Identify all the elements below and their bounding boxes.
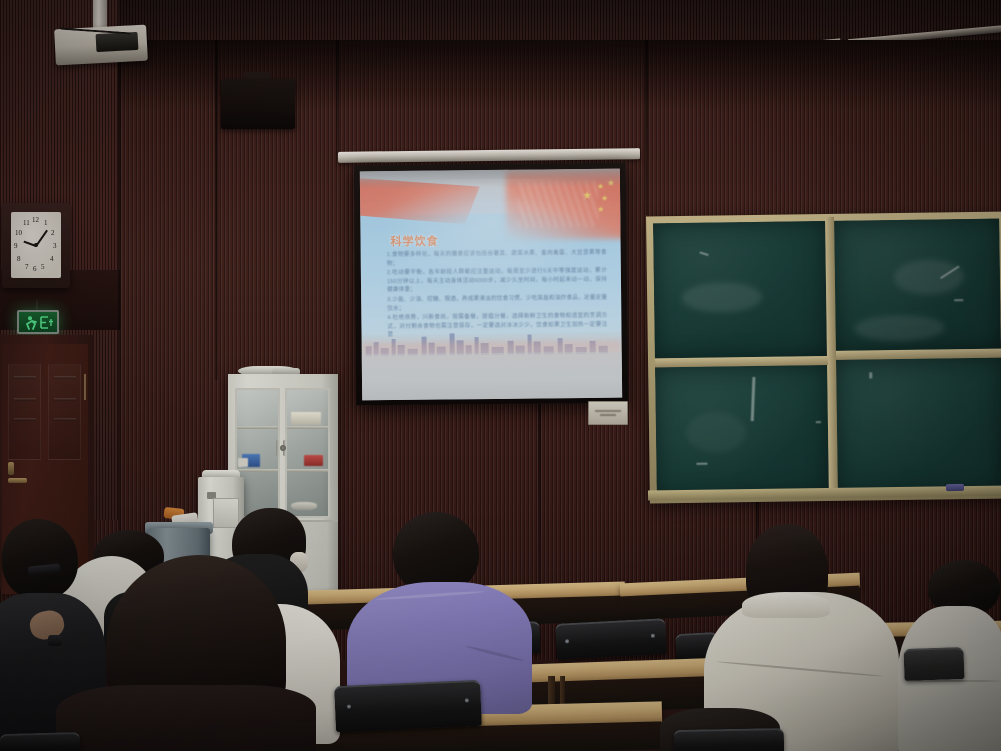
placard-text-line	[595, 410, 621, 412]
running-person-icon	[21, 315, 55, 330]
slide-body-line: 2.吃动要平衡，各年龄段人群都应注重运动，每周至少进行5天中等强度运动，累计15…	[387, 267, 607, 295]
clock-number: 8	[17, 256, 21, 263]
clock-number: 5	[41, 264, 45, 271]
dark-coat	[56, 685, 316, 751]
clock-number: 2	[51, 230, 55, 237]
clock-number: 9	[14, 243, 18, 250]
clock-number: 1	[44, 220, 48, 227]
projection-screen: ★ ★ ★ ★ ★ 科学饮食 1.食物要多样化，每天的膳食应该包括谷薯类、蔬菜水…	[354, 163, 628, 406]
chair-screw	[651, 634, 655, 638]
cabinet-stacked-papers	[291, 412, 321, 425]
cabinet-lock-icon[interactable]	[280, 445, 286, 451]
flag-star-icon: ★	[597, 206, 604, 214]
slide-bottom-fade	[362, 352, 622, 401]
clock-number: 11	[23, 220, 30, 227]
cabinet-shelf	[237, 469, 278, 472]
clock-number: 7	[25, 264, 29, 271]
wall-clock: 12 1 2 3 4 5 6 7 8 9 10 11	[2, 203, 70, 288]
chair-back[interactable]	[903, 647, 964, 681]
flag-star-icon: ★	[601, 195, 608, 203]
placard-text-line	[600, 414, 616, 416]
chair-back[interactable]	[0, 732, 80, 751]
clock-center-pin	[34, 243, 38, 247]
chair-screw	[347, 704, 351, 708]
door-groove	[14, 376, 36, 379]
slide-body-line: 1.食物要多样化，每天的膳食应该包括谷薯类、蔬菜水果、畜肉禽蛋、大豆坚果等食物；	[387, 249, 607, 268]
chalk-mark	[869, 372, 872, 378]
slide-top-shadow	[360, 169, 620, 190]
slide-body-line: 3.少盐、少油、控糖、限酒，养成果清淡的饮食习惯，少吃高盐和油炸食品，足量足量饮…	[387, 294, 607, 313]
wall-speaker	[221, 79, 295, 129]
chalkboard-panel	[836, 358, 1001, 494]
door-groove	[54, 376, 76, 379]
chair-screw	[565, 639, 569, 643]
slide-title: 科学饮食	[390, 233, 438, 250]
chair-screw	[465, 698, 469, 702]
chalk-mark	[954, 299, 963, 301]
flag-star-icon: ★	[582, 191, 592, 202]
chalkboard-inner-frame	[653, 219, 1001, 497]
clock-number: 10	[15, 230, 22, 237]
clock-number: 6	[33, 266, 37, 273]
wall-placard	[588, 401, 628, 425]
chalk-mark	[816, 421, 821, 423]
door-handle[interactable]	[8, 478, 27, 483]
cabinet-shelf	[237, 426, 278, 429]
clock-number: 3	[53, 243, 57, 250]
door-groove	[54, 398, 76, 401]
cabinet-item-red	[304, 455, 323, 466]
flag-wave-texture	[518, 181, 598, 228]
clock-number: 12	[32, 217, 39, 224]
chair-back[interactable]	[555, 618, 667, 660]
puffer-collar	[742, 592, 830, 618]
cabinet-shelf	[287, 469, 328, 472]
projector-mount-pole	[93, 0, 107, 30]
cabinet-glass-door-right[interactable]	[285, 388, 330, 518]
green-chalkboard	[646, 212, 1001, 504]
door-lock[interactable]	[8, 462, 14, 475]
chair-back[interactable]	[674, 728, 784, 751]
cabinet-shelf	[287, 426, 328, 429]
door-groove	[14, 398, 36, 401]
emergency-exit-sign	[17, 310, 59, 334]
clock-number: 4	[50, 256, 54, 263]
door-groove	[54, 418, 76, 421]
door-edge-strip	[84, 374, 86, 400]
door-groove	[14, 418, 36, 421]
cabinet-item-white	[238, 458, 248, 467]
chalk-mark	[696, 463, 707, 465]
chair-back[interactable]	[334, 680, 482, 732]
chalkboard-eraser[interactable]	[946, 484, 964, 491]
slide-canvas: ★ ★ ★ ★ ★ 科学饮食 1.食物要多样化，每天的膳食应该包括谷薯类、蔬菜水…	[360, 169, 622, 401]
classroom-scene: 12 1 2 3 4 5 6 7 8 9 10 11	[0, 0, 1001, 751]
student-longhair	[26, 555, 316, 751]
cabinet-handle-left[interactable]	[276, 440, 279, 456]
clock-face: 12 1 2 3 4 5 6 7 8 9 10 11	[11, 212, 61, 278]
